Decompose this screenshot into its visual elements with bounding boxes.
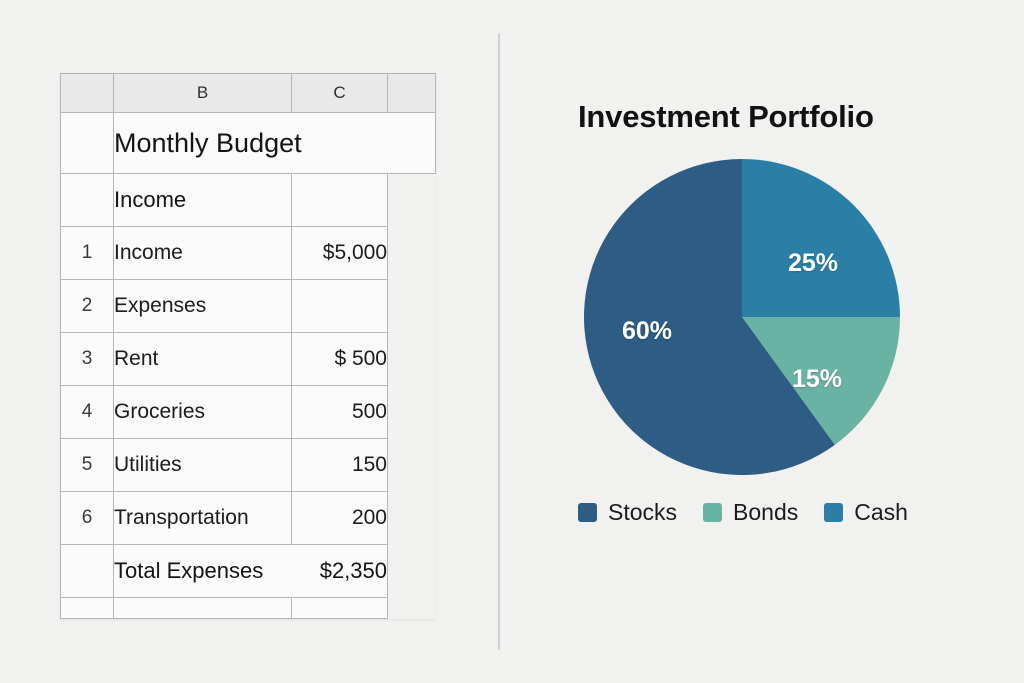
row-value[interactable]: $ 500 — [292, 333, 388, 386]
row-number-blank[interactable] — [61, 598, 114, 619]
chart-title: Investment Portfolio — [578, 99, 990, 135]
spacer-cell — [388, 174, 436, 227]
blank-cell-b[interactable] — [114, 598, 292, 619]
budget-title-cell[interactable]: Monthly Budget — [114, 113, 436, 174]
spacer-cell — [388, 386, 436, 439]
pie-label-bonds: 15% — [792, 365, 842, 394]
row-value[interactable]: 200 — [292, 492, 388, 545]
row-label[interactable]: Rent — [114, 333, 292, 386]
row-number-blank[interactable] — [61, 545, 114, 598]
pie-label-stocks: 60% — [622, 317, 672, 346]
pie-chart[interactable]: 60% 25% 15% — [582, 157, 902, 477]
row-value[interactable]: $5,000 — [292, 227, 388, 280]
spacer-cell — [388, 439, 436, 492]
spacer-cell — [388, 227, 436, 280]
legend-swatch-icon — [578, 503, 597, 522]
legend-item-cash[interactable]: Cash — [824, 499, 908, 526]
pie-label-cash: 25% — [788, 249, 838, 278]
blank-cell-c[interactable] — [292, 598, 388, 619]
row-number-blank[interactable] — [61, 174, 114, 227]
budget-table[interactable]: B C Monthly Budget Income 1 Income $5,00… — [60, 73, 436, 619]
table-row-blank[interactable] — [61, 598, 436, 619]
table-row-section-income[interactable]: Income — [61, 174, 436, 227]
row-number-blank[interactable] — [61, 113, 114, 174]
section-header-income-value[interactable] — [292, 174, 388, 227]
legend-item-stocks[interactable]: Stocks — [578, 499, 677, 526]
row-value[interactable]: 150 — [292, 439, 388, 492]
table-row[interactable]: 3 Rent $ 500 — [61, 333, 436, 386]
row-value[interactable] — [292, 280, 388, 333]
section-header-income[interactable]: Income — [114, 174, 292, 227]
legend-label: Bonds — [733, 499, 798, 526]
spacer-cell — [388, 492, 436, 545]
row-label[interactable]: Utilities — [114, 439, 292, 492]
spacer-cell — [388, 598, 436, 619]
spacer-cell — [388, 280, 436, 333]
table-row[interactable]: 2 Expenses — [61, 280, 436, 333]
legend-swatch-icon — [703, 503, 722, 522]
table-row[interactable]: 4 Groceries 500 — [61, 386, 436, 439]
row-label[interactable]: Groceries — [114, 386, 292, 439]
row-number[interactable]: 6 — [61, 492, 114, 545]
total-expenses-label: Total Expenses — [114, 558, 263, 584]
row-number[interactable]: 5 — [61, 439, 114, 492]
row-number[interactable]: 3 — [61, 333, 114, 386]
spacer-cell — [388, 545, 436, 598]
legend-swatch-icon — [824, 503, 843, 522]
vertical-divider — [498, 33, 500, 650]
column-header-row: B C — [61, 74, 436, 113]
row-label[interactable]: Transportation — [114, 492, 292, 545]
spreadsheet-panel: B C Monthly Budget Income 1 Income $5,00… — [60, 73, 435, 619]
pie-slice-cash[interactable] — [742, 159, 900, 317]
row-number[interactable]: 4 — [61, 386, 114, 439]
legend-label: Cash — [854, 499, 908, 526]
legend-label: Stocks — [608, 499, 677, 526]
table-row[interactable]: 5 Utilities 150 — [61, 439, 436, 492]
row-number[interactable]: 1 — [61, 227, 114, 280]
row-label[interactable]: Expenses — [114, 280, 292, 333]
legend-item-bonds[interactable]: Bonds — [703, 499, 798, 526]
table-row-title[interactable]: Monthly Budget — [61, 113, 436, 174]
row-number[interactable]: 2 — [61, 280, 114, 333]
total-expenses-cell[interactable]: Total Expenses $2,350 — [114, 545, 388, 598]
column-header-c[interactable]: C — [292, 74, 388, 113]
column-header-d[interactable] — [388, 74, 436, 113]
table-row[interactable]: 1 Income $5,000 — [61, 227, 436, 280]
total-expenses-value: $2,350 — [320, 558, 387, 584]
chart-legend: Stocks Bonds Cash — [578, 499, 990, 526]
chart-panel: Investment Portfolio 60% 25% 15% Stocks … — [520, 73, 990, 526]
table-row[interactable]: 6 Transportation 200 — [61, 492, 436, 545]
row-label[interactable]: Income — [114, 227, 292, 280]
table-row-total[interactable]: Total Expenses $2,350 — [61, 545, 436, 598]
column-header-b[interactable]: B — [114, 74, 292, 113]
row-value[interactable]: 500 — [292, 386, 388, 439]
spacer-cell — [388, 333, 436, 386]
column-header-rownum[interactable] — [61, 74, 114, 113]
